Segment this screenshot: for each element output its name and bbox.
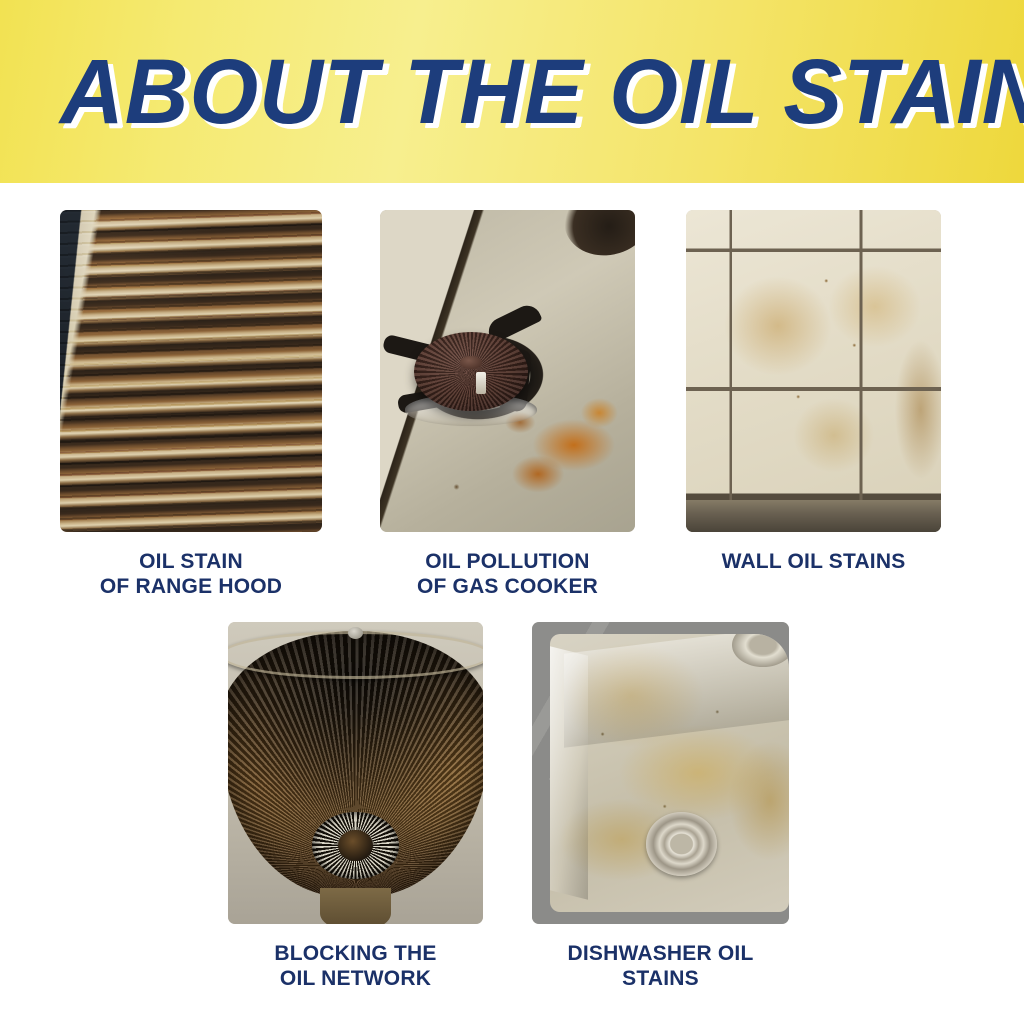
caption-range-hood: OIL STAIN OF RANGE HOOD	[60, 549, 322, 599]
page-title: ABOUT THE OIL STAIN ?	[60, 44, 943, 140]
sink-drain	[646, 812, 718, 876]
pilot-igniter	[476, 372, 485, 395]
card-blocking-oil-network: BLOCKING THE OIL NETWORK	[228, 622, 483, 991]
wall-tiles-texture	[686, 210, 941, 532]
dirty-sink-texture	[532, 622, 789, 924]
wall-tiles-photo	[686, 210, 941, 532]
dirty-kitchen-sink-photo	[532, 622, 789, 924]
card-wall-oil-stains: WALL OIL STAINS	[686, 210, 941, 574]
floor-object-shape	[885, 503, 918, 532]
range-hood-filter-texture	[60, 210, 322, 532]
caption-wall-oil-stains: WALL OIL STAINS	[686, 549, 941, 574]
caption-gas-cooker: OIL POLLUTION OF GAS COOKER	[380, 549, 635, 599]
floor-object-shape	[732, 503, 765, 532]
funnel-stem	[320, 888, 391, 924]
caption-blocking-oil-network: BLOCKING THE OIL NETWORK	[228, 941, 483, 991]
burner-assembly	[390, 307, 574, 449]
sink-basin	[550, 634, 789, 912]
card-dishwasher-oil-stains: DISHWASHER OIL STAINS	[532, 622, 789, 991]
infographic-page: ABOUT THE OIL STAIN ? OIL STAIN OF RANGE…	[0, 0, 1024, 1024]
funnel-screw	[348, 627, 363, 639]
burner-cap	[414, 332, 528, 411]
burner-cap-knob	[460, 356, 483, 369]
blocked-oil-funnel-texture	[228, 622, 483, 924]
caption-dishwasher-oil-stains: DISHWASHER OIL STAINS	[532, 941, 789, 991]
blocked-oil-funnel-photo	[228, 622, 483, 924]
sink-left-lip	[550, 646, 588, 900]
card-oil-pollution-gas-cooker: OIL POLLUTION OF GAS COOKER	[380, 210, 635, 599]
gas-cooker-burner-photo	[380, 210, 635, 532]
secondary-burner-shape	[557, 210, 635, 263]
range-hood-filter-photo	[60, 210, 322, 532]
card-oil-stain-range-hood: OIL STAIN OF RANGE HOOD	[60, 210, 322, 599]
funnel-drain-grate	[312, 812, 399, 878]
header-banner: ABOUT THE OIL STAIN ?	[0, 0, 1024, 183]
funnel-drain-core	[338, 830, 373, 862]
gas-cooker-texture	[380, 210, 635, 532]
